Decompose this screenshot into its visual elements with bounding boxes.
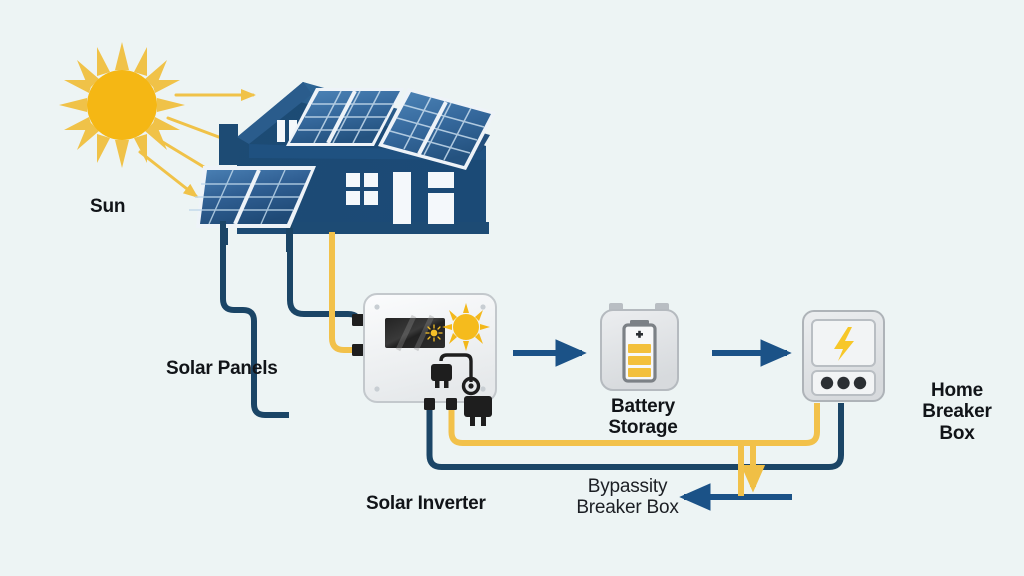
battery-icon [601, 303, 678, 390]
label-solar-inverter: Solar Inverter [366, 493, 486, 514]
inverter-input-terminal-top [352, 314, 364, 326]
solar-panel-ground-icon [189, 166, 316, 252]
sun-icon [59, 42, 185, 168]
inverter-icon [364, 294, 496, 426]
inverter-input-terminal-bottom [352, 344, 364, 356]
inverter-output-terminal-1 [424, 398, 435, 410]
inverter-output-terminal-2 [446, 398, 457, 410]
diagram-canvas [0, 0, 1024, 576]
label-bypass-breaker-box: Bypassity Breaker Box [545, 476, 710, 519]
label-battery-storage: Battery Storage [600, 396, 686, 439]
breaker-box-icon [803, 311, 884, 401]
battery-charge-bars [628, 344, 651, 377]
inverter-sun-icon [442, 303, 490, 351]
inverter-display-icon [385, 316, 445, 350]
breaker-switches [821, 377, 866, 389]
label-home-breaker-box: Home Breaker Box [896, 380, 1018, 444]
label-sun: Sun [90, 196, 125, 217]
solar-system-diagram: Sun Solar Panels Solar Inverter Battery … [0, 0, 1024, 576]
label-solar-panels: Solar Panels [166, 358, 278, 379]
panel-to-inverter-cables [223, 221, 360, 415]
inverter-output-plug-icon [464, 396, 492, 426]
